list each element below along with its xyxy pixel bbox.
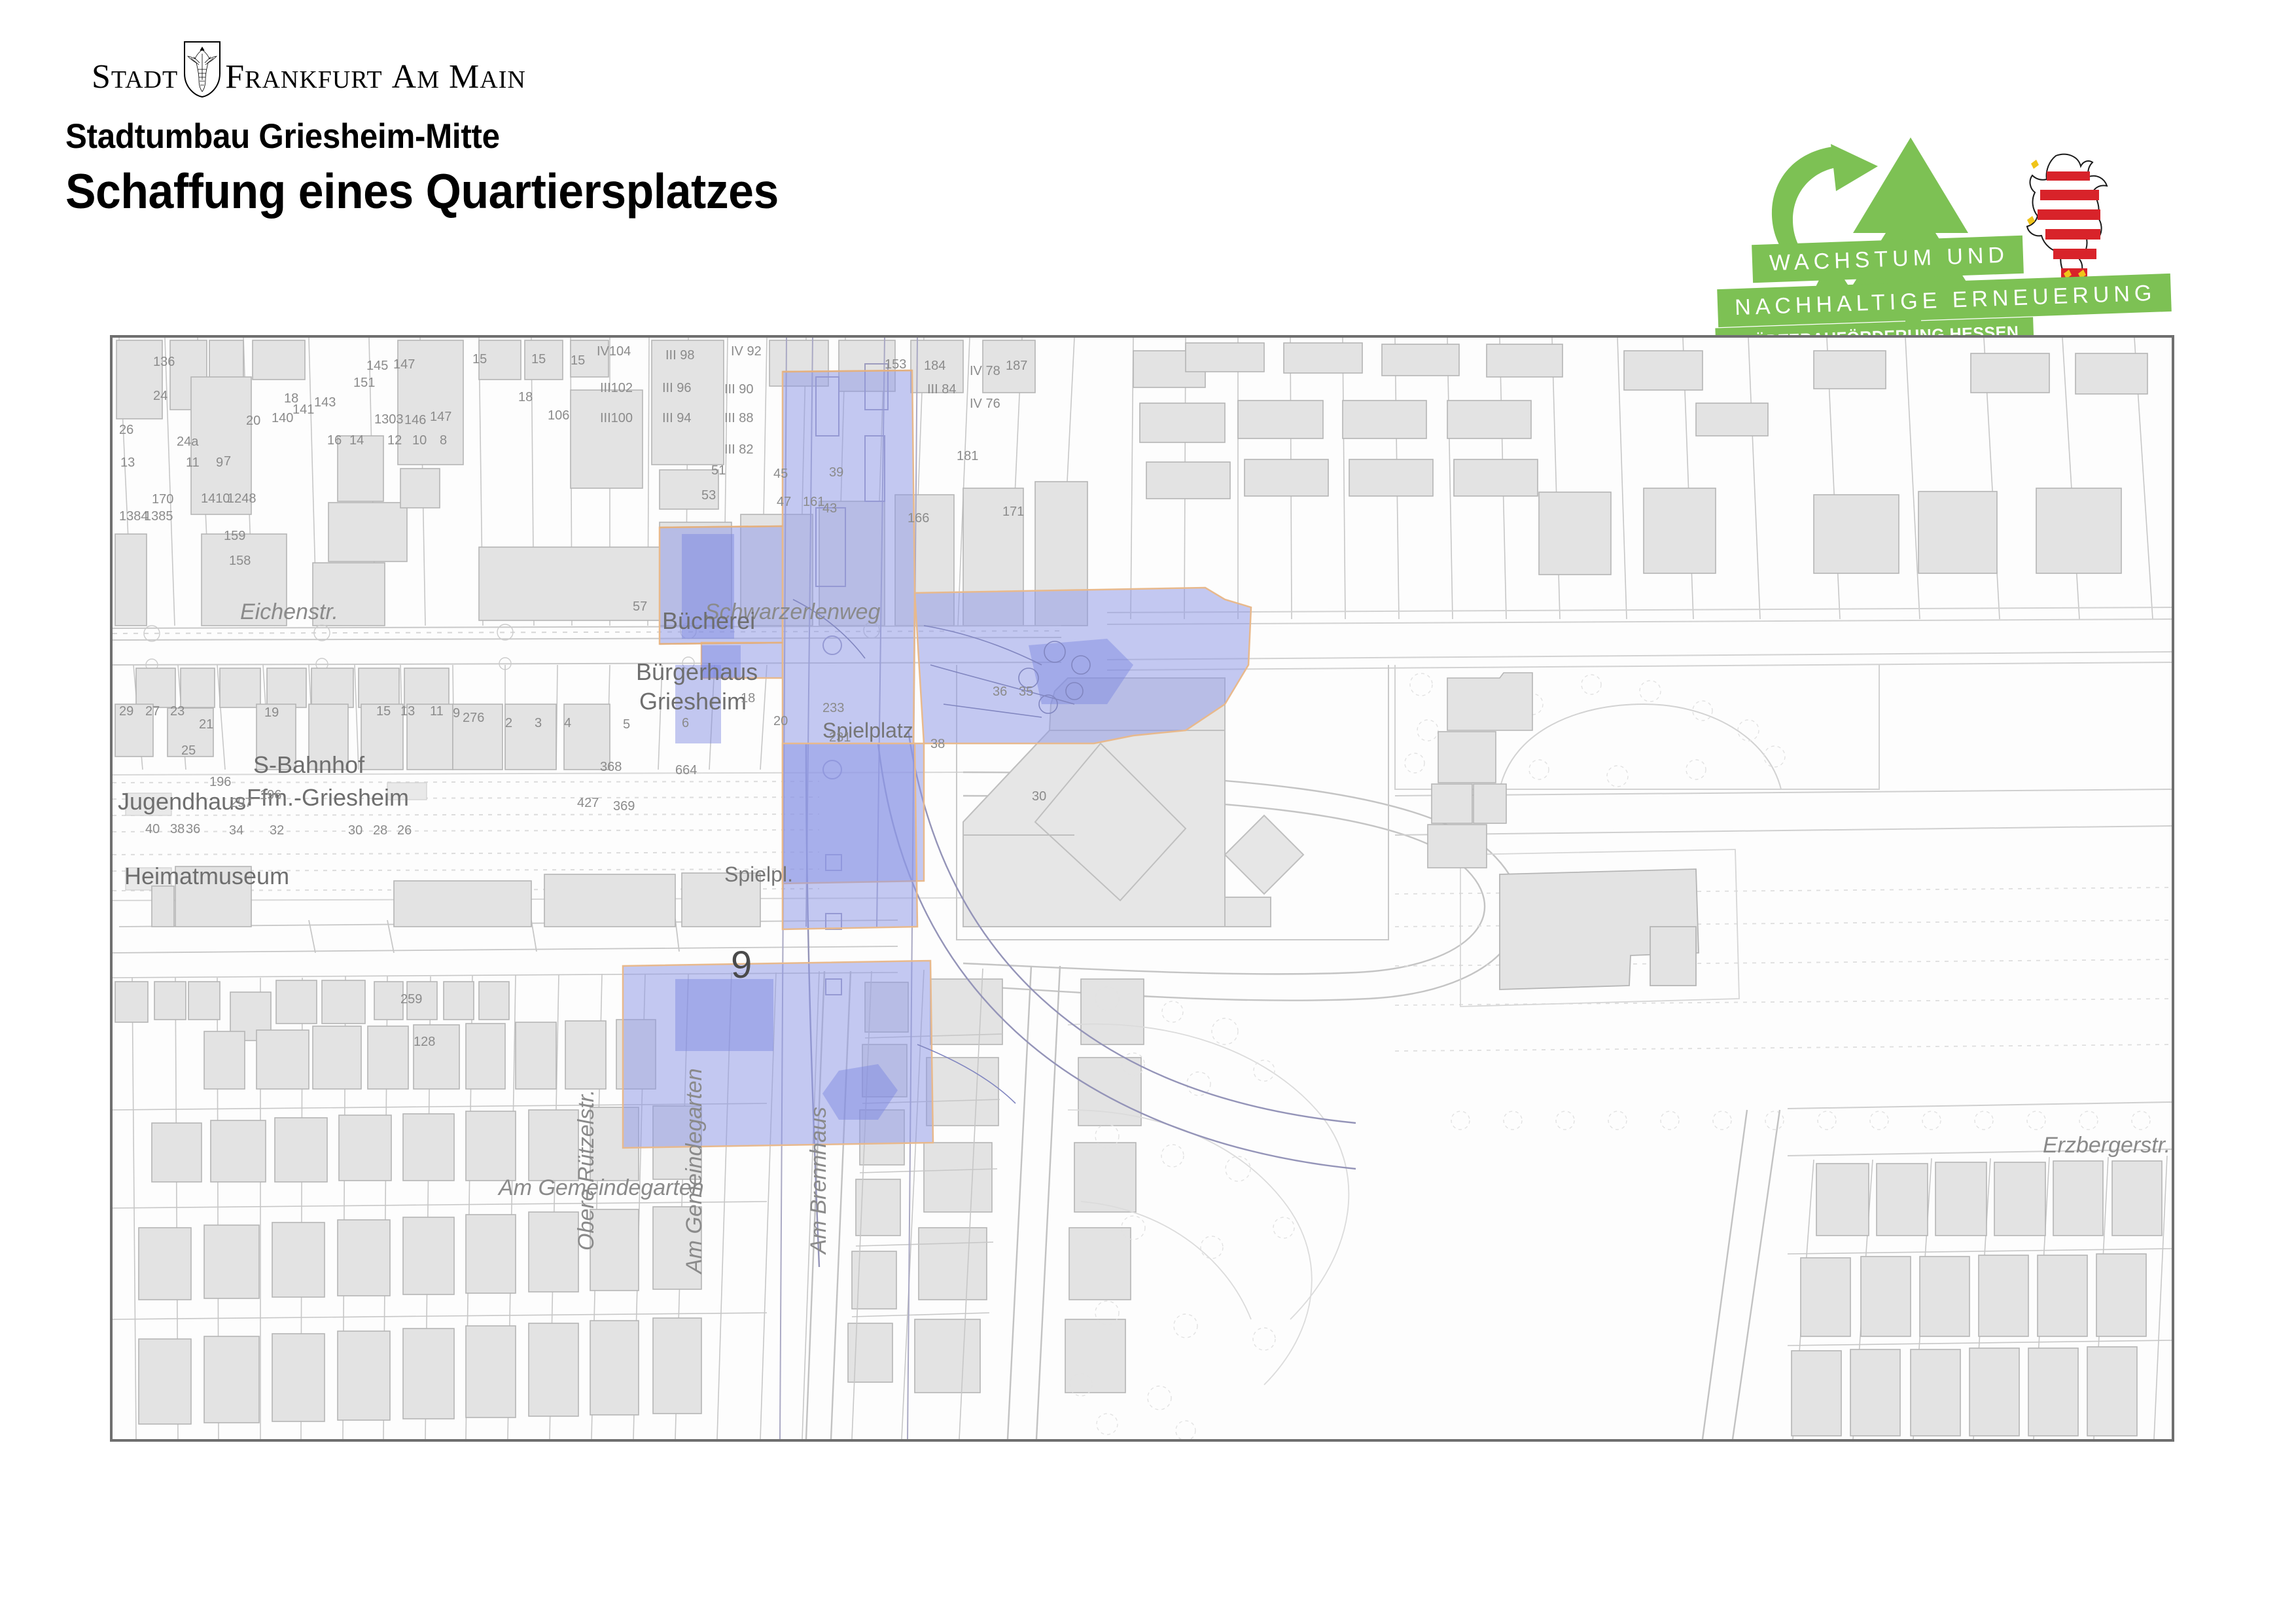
city-logo-word-main: MAIN <box>449 60 526 94</box>
hessen-lion-icon <box>2027 154 2107 279</box>
map-geometry <box>113 338 2172 1439</box>
title-block: Stadtumbau Griesheim-Mitte Schaffung ein… <box>65 116 832 219</box>
poster-page: STADT FRANKFURT AM MAIN Stadtumbau Gri <box>0 0 2296 1623</box>
city-logo-word-stadt: STADT <box>92 60 178 94</box>
project-subtitle: Stadtumbau Griesheim-Mitte <box>65 116 779 156</box>
frankfurt-eagle-crest-icon <box>183 41 221 98</box>
city-logo-word-frankfurt: FRANKFURT <box>225 60 382 94</box>
page-title: Schaffung eines Quartiersplatzes <box>65 163 779 219</box>
funding-logo-strip: Bundesministerium für Wohnen, Stadtentwi… <box>0 1461 2296 1623</box>
city-of-frankfurt-logo: STADT FRANKFURT AM MAIN <box>92 38 526 94</box>
cadastral-map[interactable]: Eichenstr. Schwarzerlenweg Erzbergerstr.… <box>110 335 2174 1442</box>
city-logo-word-am: AM <box>392 60 440 94</box>
